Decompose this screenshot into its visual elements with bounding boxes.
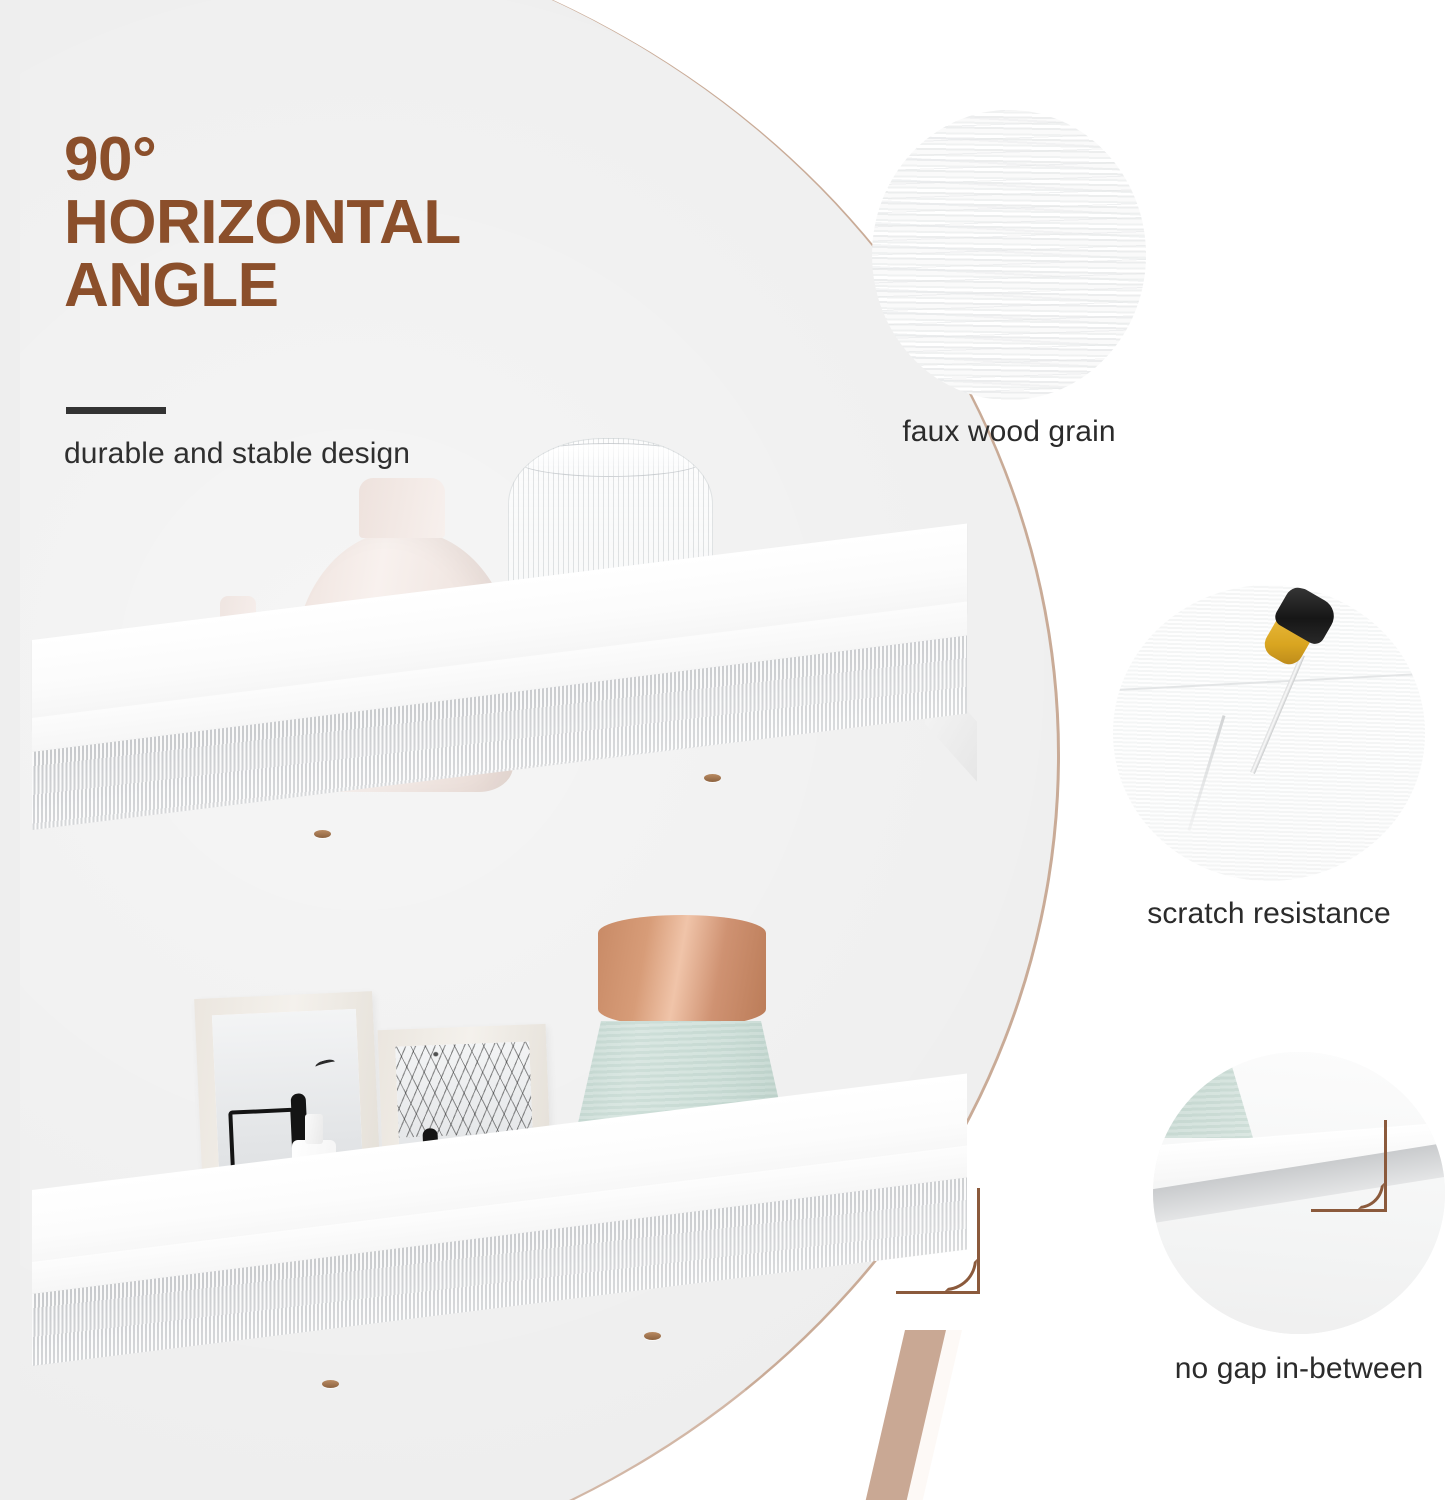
- callout-label-no-gap-in-between: no gap in-between: [1147, 1352, 1445, 1386]
- angle-marker-vertical: [977, 1188, 980, 1294]
- ninety-degree-angle-marker: [896, 1188, 980, 1294]
- screwdriver-scratching-white-surface-circle: [1113, 585, 1425, 881]
- closeup-ninety-degree-angle-marker: [1311, 1120, 1387, 1212]
- upper-shelf-screw-left: [314, 830, 331, 838]
- lower-shelf-screw-left: [322, 1380, 339, 1388]
- upper-floating-shelf: [32, 640, 967, 910]
- lower-shelf-screw-right: [644, 1332, 661, 1340]
- bottle-cap: [305, 1114, 323, 1144]
- callout-label-scratch-resistance: scratch resistance: [1103, 897, 1435, 931]
- shelf-wall-joint-closeup-circle: [1153, 1052, 1445, 1334]
- scratch-trace: [1188, 715, 1226, 831]
- white-wood-grain-texture-circle: [872, 110, 1146, 400]
- closeup-angle-horizontal: [1311, 1209, 1387, 1212]
- callout-scratch-resistance: scratch resistance: [1113, 585, 1425, 935]
- photo-tree-branches: [395, 1042, 532, 1138]
- lantern-rim: [515, 443, 705, 477]
- callout-label-faux-wood-grain: faux wood grain: [882, 415, 1136, 449]
- vase-copper-collar: [598, 915, 766, 1027]
- lower-floating-shelf: [32, 1190, 967, 1450]
- surface-horizon-line: [1113, 673, 1425, 691]
- screwdriver-shaft-icon: [1250, 654, 1305, 774]
- upper-shelf-screw-right: [704, 774, 721, 782]
- pitcher-neck: [359, 478, 445, 538]
- callout-faux-wood-grain: faux wood grain: [872, 110, 1146, 450]
- callout-no-gap-in-between: no gap in-between: [1153, 1052, 1445, 1412]
- product-feature-image: 90° HORIZONTAL ANGLE durable and stable …: [0, 0, 1445, 1500]
- angle-marker-arc: [945, 1259, 977, 1291]
- closeup-angle-vertical: [1384, 1120, 1387, 1212]
- closeup-angle-arc: [1358, 1183, 1384, 1209]
- angle-marker-horizontal: [896, 1291, 980, 1294]
